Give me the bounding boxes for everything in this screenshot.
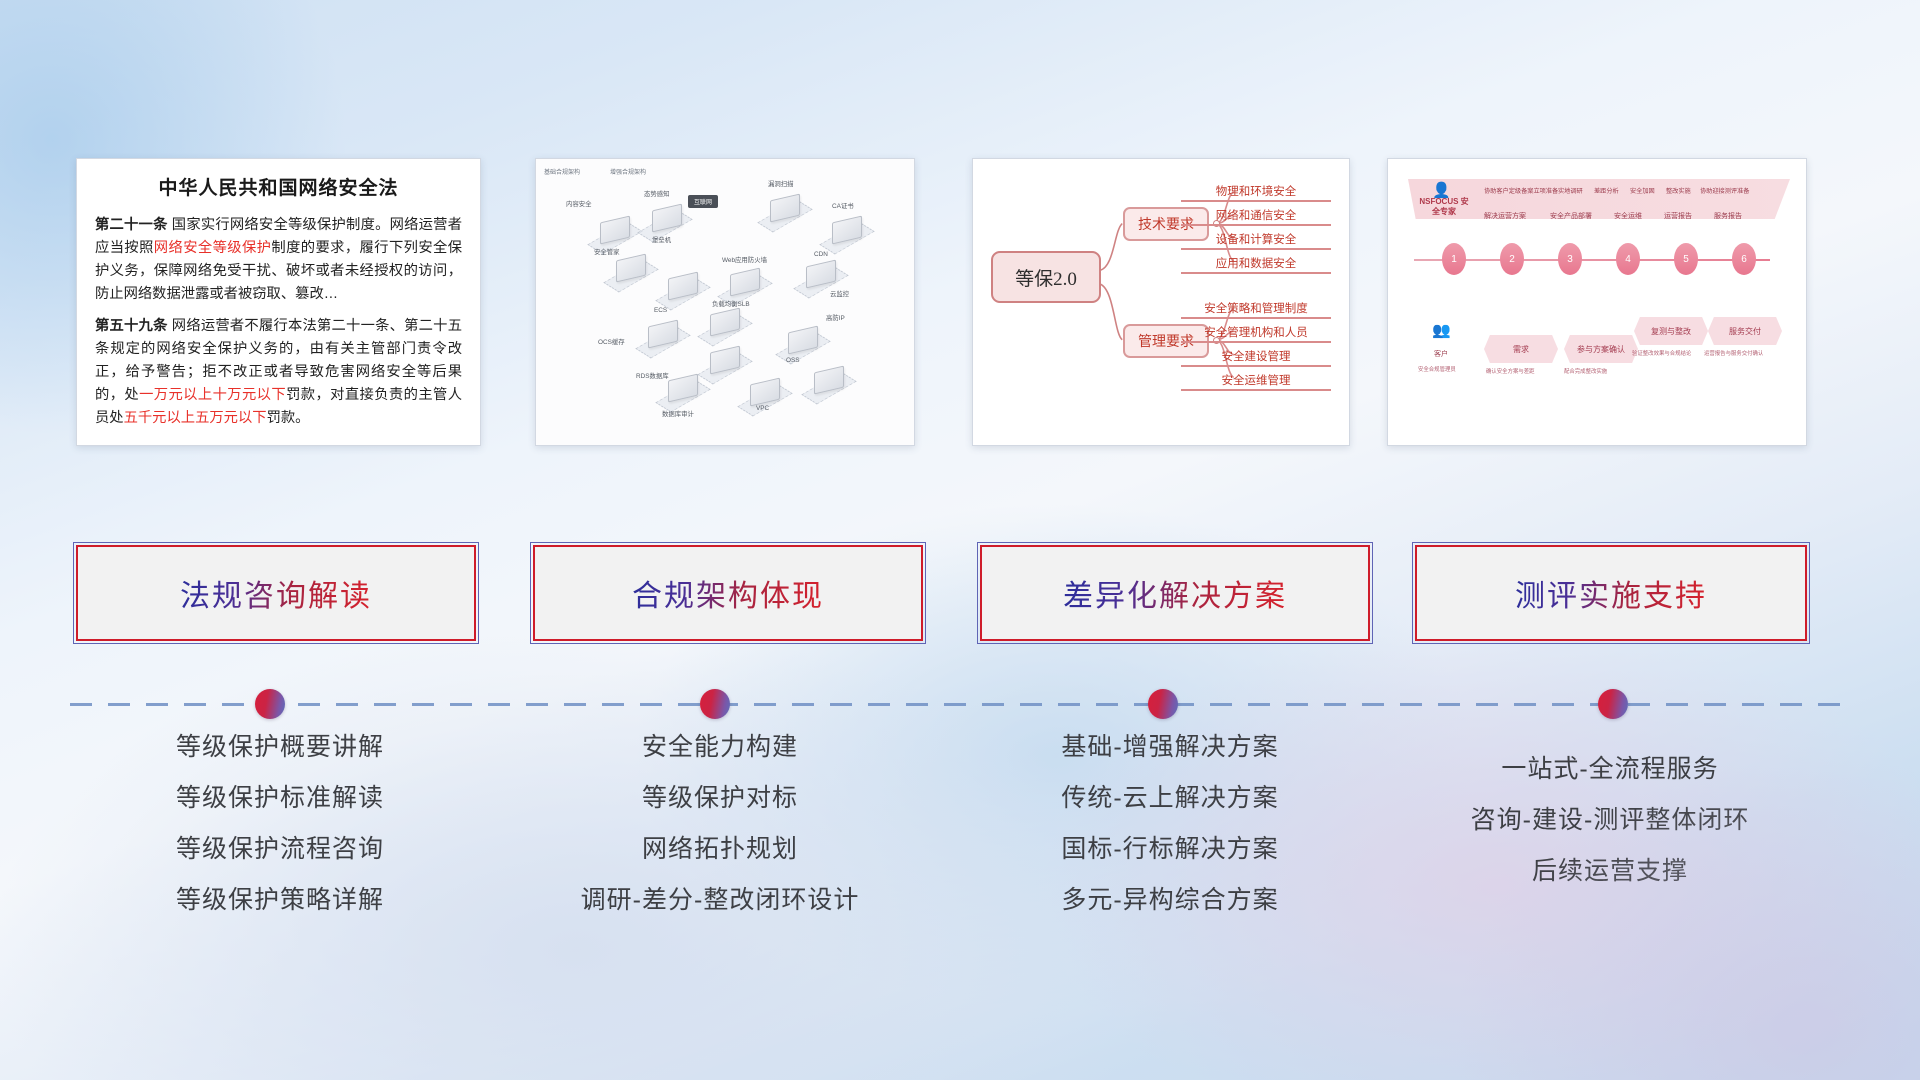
- customer-avatar-icon: 👥: [1432, 321, 1451, 339]
- list-item: 等级保护流程咨询: [80, 837, 480, 862]
- roadmap-bottom-sub-0: 安全合规管理员: [1418, 365, 1456, 373]
- arch-label-3: 漏洞扫描: [768, 179, 794, 188]
- roadmap-step-2[interactable]: 2: [1500, 243, 1524, 275]
- roadmap-stage-chip-3: 运营报告: [1664, 211, 1692, 221]
- roadmap-bottom-node-0: 需求: [1484, 335, 1558, 363]
- arch-label-9: RDS数据库: [636, 371, 669, 380]
- law-article-59: 第五十九条 网络运营者不履行本法第二十一条、第二十五条规定的网络安全保护义务的，…: [95, 315, 462, 431]
- title-label-3: 差异化解决方案: [1063, 571, 1287, 615]
- roadmap-step-3[interactable]: 3: [1558, 243, 1582, 275]
- arch-label-2: 堡垒机: [652, 235, 671, 244]
- arch-label-16: 内容安全: [566, 199, 592, 208]
- list-item: 网络拓扑规划: [520, 837, 920, 862]
- list-item: 等级保护对标: [520, 786, 920, 811]
- arch-label-0: 安全管家: [594, 247, 620, 256]
- roadmap-step-6[interactable]: 6: [1732, 243, 1756, 275]
- card-service-roadmap[interactable]: 👤 NSFOCUS 安全专家 协助客户定级备案立项准备 实地调研 差距分析 安全…: [1387, 158, 1807, 446]
- list-item: 多元-异构综合方案: [960, 888, 1380, 913]
- column-compliance-architecture: 安全能力构建 等级保护对标 网络拓扑规划 调研-差分-整改闭环设计: [520, 735, 920, 939]
- roadmap-axis-line: [1414, 259, 1770, 261]
- list-item: 后续运营支撑: [1400, 859, 1820, 884]
- timeline-dot-3[interactable]: [1148, 689, 1178, 719]
- arch-label-5: Web应用防火墙: [722, 255, 767, 264]
- roadmap-band-chip-5: 协助迎接测评准备: [1700, 186, 1750, 195]
- mindmap-root-node[interactable]: 等保2.0: [991, 251, 1101, 303]
- roadmap-bottom-node-3: 服务交付: [1708, 317, 1782, 345]
- roadmap-bottom-node-2: 复测与整改: [1634, 317, 1708, 345]
- roadmap-bottom-sub-1: 确认安全方案与差距: [1486, 367, 1535, 375]
- roadmap-step-1[interactable]: 1: [1442, 243, 1466, 275]
- roadmap-step-5[interactable]: 5: [1674, 243, 1698, 275]
- arch-tab-enhanced[interactable]: 增强合规架构: [610, 167, 646, 176]
- arch-badge-internet: 互联网: [688, 195, 718, 208]
- title-box-compliance-architecture[interactable]: 合规架构体现: [533, 545, 923, 641]
- list-item: 等级保护标准解读: [80, 786, 480, 811]
- mindmap-leaf-mgmt-1: 安全管理机构和人员: [1181, 324, 1331, 343]
- arch-label-10: OCS缓存: [598, 337, 625, 346]
- title-box-differentiated-solution[interactable]: 差异化解决方案: [980, 545, 1370, 641]
- list-item: 一站式-全流程服务: [1400, 757, 1820, 782]
- roadmap-band-chip-2: 差距分析: [1594, 186, 1619, 195]
- arch-label-6: 负载均衡SLB: [712, 299, 750, 308]
- roadmap-stage-chip-1: 安全产品部署: [1550, 211, 1592, 221]
- mindmap-leaf-mgmt-2: 安全建设管理: [1181, 348, 1331, 367]
- law-article-59-highlight-2: 五千元以上五万元以下: [124, 410, 267, 426]
- list-item: 等级保护概要讲解: [80, 735, 480, 760]
- roadmap-stage-chip-2: 安全运维: [1614, 211, 1642, 221]
- mindmap-leaf-mgmt-3: 安全运维管理: [1181, 372, 1331, 391]
- arch-label-7: ECS: [654, 307, 667, 314]
- roadmap-bottom-sub-3: 验证整改效果与合规结论: [1632, 349, 1691, 357]
- arch-label-13: 云监控: [830, 289, 849, 298]
- roadmap-band-chip-3: 安全加固: [1630, 186, 1655, 195]
- card-mindmap-dengbao[interactable]: 等保2.0 技术要求 物理和环境安全 网络和通信安全 设备和计算安全 应用和数据…: [972, 158, 1350, 446]
- roadmap-stage-chip-0: 解决运营方案: [1484, 211, 1526, 221]
- list-item: 国标-行标解决方案: [960, 837, 1380, 862]
- arch-label-1: 态势感知: [644, 189, 670, 198]
- thumbnail-row: 中华人民共和国网络安全法 第二十一条 国家实行网络安全等级保护制度。网络运营者应…: [0, 150, 1920, 440]
- roadmap-band-chip-0: 协助客户定级备案立项准备: [1484, 186, 1558, 195]
- column-regulation-consulting: 等级保护概要讲解 等级保护标准解读 等级保护流程咨询 等级保护策略详解: [80, 735, 480, 939]
- arch-node: [652, 204, 682, 233]
- list-item: 基础-增强解决方案: [960, 735, 1380, 760]
- roadmap-stage-chip-4: 服务报告: [1714, 211, 1742, 221]
- mindmap-leaf-tech-2: 设备和计算安全: [1181, 231, 1331, 250]
- timeline: [0, 690, 1920, 720]
- roadmap-brand-label: NSFOCUS 安全专家: [1416, 197, 1472, 217]
- title-box-row: 法规咨询解读 合规架构体现 差异化解决方案 测评实施支持: [0, 545, 1920, 650]
- timeline-dot-4[interactable]: [1598, 689, 1628, 719]
- list-item: 等级保护策略详解: [80, 888, 480, 913]
- law-article-21: 第二十一条 国家实行网络安全等级保护制度。网络运营者应当按照网络安全等级保护制度…: [95, 214, 462, 307]
- title-label-1: 法规咨询解读: [180, 571, 372, 615]
- timeline-dashed-line: [70, 703, 1848, 706]
- list-item: 调研-差分-整改闭环设计: [520, 888, 920, 913]
- arch-label-8: OSS: [786, 357, 800, 364]
- roadmap-band-chip-1: 实地调研: [1558, 186, 1583, 195]
- arch-label-15: 高防IP: [826, 313, 845, 322]
- arch-tab-basic[interactable]: 基础合规架构: [544, 167, 580, 176]
- list-item: 安全能力构建: [520, 735, 920, 760]
- mindmap-leaf-mgmt-0: 安全策略和管理制度: [1181, 300, 1331, 319]
- timeline-dot-2[interactable]: [700, 689, 730, 719]
- arch-label-14: CA证书: [832, 201, 854, 210]
- title-label-4: 测评实施支持: [1515, 571, 1707, 615]
- list-item: 传统-云上解决方案: [960, 786, 1380, 811]
- arch-label-11: VPC: [756, 405, 769, 412]
- roadmap-bottom-sub-4: 运营报告与服务交付确认: [1704, 349, 1763, 357]
- column-differentiated-solution: 基础-增强解决方案 传统-云上解决方案 国标-行标解决方案 多元-异构综合方案: [960, 735, 1380, 939]
- mindmap-diagram: 等保2.0 技术要求 物理和环境安全 网络和通信安全 设备和计算安全 应用和数据…: [973, 159, 1349, 445]
- title-label-2: 合规架构体现: [632, 571, 824, 615]
- law-document: 中华人民共和国网络安全法 第二十一条 国家实行网络安全等级保护制度。网络运营者应…: [77, 159, 480, 440]
- timeline-dot-1[interactable]: [255, 689, 285, 719]
- slide-canvas: 中华人民共和国网络安全法 第二十一条 国家实行网络安全等级保护制度。网络运营者应…: [0, 0, 1920, 1080]
- roadmap-diagram: 👤 NSFOCUS 安全专家 协助客户定级备案立项准备 实地调研 差距分析 安全…: [1388, 159, 1806, 445]
- arch-label-12: CDN: [814, 251, 828, 258]
- card-cybersecurity-law[interactable]: 中华人民共和国网络安全法 第二十一条 国家实行网络安全等级保护制度。网络运营者应…: [76, 158, 481, 446]
- title-box-regulation-consulting[interactable]: 法规咨询解读: [76, 545, 476, 641]
- roadmap-band-chip-4: 整改实施: [1666, 186, 1691, 195]
- detail-columns: 等级保护概要讲解 等级保护标准解读 等级保护流程咨询 等级保护策略详解 安全能力…: [0, 735, 1920, 975]
- roadmap-step-4[interactable]: 4: [1616, 243, 1640, 275]
- architecture-diagram: 基础合规架构 增强合规架构 互联网: [536, 159, 914, 445]
- law-article-21-label: 第二十一条: [95, 217, 168, 233]
- list-item: 咨询-建设-测评整体闭环: [1400, 808, 1820, 833]
- title-box-assessment-support[interactable]: 测评实施支持: [1415, 545, 1807, 641]
- arch-label-4: 数据库审计: [662, 409, 694, 418]
- mindmap-leaf-tech-0: 物理和环境安全: [1181, 183, 1331, 202]
- mindmap-leaf-tech-3: 应用和数据安全: [1181, 255, 1331, 274]
- mindmap-leaf-tech-1: 网络和通信安全: [1181, 207, 1331, 226]
- law-article-59-highlight-1: 一万元以上十万元以下: [139, 387, 286, 403]
- law-title: 中华人民共和国网络安全法: [95, 173, 462, 200]
- card-cloud-architecture[interactable]: 基础合规架构 增强合规架构 互联网: [535, 158, 915, 446]
- roadmap-bottom-node-1: 参与方案确认: [1564, 335, 1638, 363]
- column-assessment-support: 一站式-全流程服务 咨询-建设-测评整体闭环 后续运营支撑: [1400, 757, 1820, 910]
- law-article-21-highlight: 网络安全等级保护: [154, 240, 272, 256]
- roadmap-bottom-label-0: 客户: [1434, 349, 1448, 359]
- law-article-59-label: 第五十九条: [95, 318, 168, 334]
- roadmap-bottom-sub-2: 配合完成整改实施: [1564, 367, 1607, 375]
- law-article-59-text-after: 罚款。: [267, 410, 310, 426]
